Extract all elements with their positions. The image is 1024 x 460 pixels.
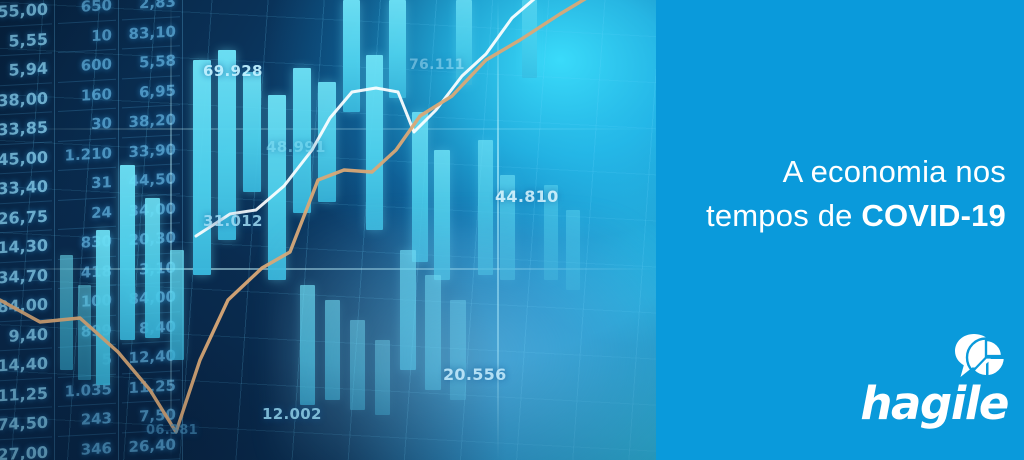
chart-value-label: 12.002 xyxy=(262,405,322,423)
chart-value-label: 44.810 xyxy=(495,187,559,206)
chart-value-label: 69.928 xyxy=(203,62,263,80)
financial-chart-image: 55,005,555,9438,0033,8545,0033,4026,7514… xyxy=(0,0,656,460)
logo-wordmark: hagile xyxy=(656,378,1008,430)
page-title: A economia nos tempos de COVID-19 xyxy=(656,150,1006,238)
hagile-logo[interactable]: hagile xyxy=(656,330,1008,430)
chart-value-label: 20.556 xyxy=(443,365,507,384)
headline-line-2: tempos de COVID-19 xyxy=(656,194,1006,238)
chart-value-label: 48.991 xyxy=(266,138,326,156)
pie-chart-speech-bubble-icon xyxy=(952,330,1008,384)
chart-value-label: 31.012 xyxy=(203,212,263,230)
promo-panel: A economia nos tempos de COVID-19 hagile xyxy=(656,0,1024,460)
chart-value-label: 06.381 xyxy=(146,423,198,438)
chart-value-label: 76.111 xyxy=(409,57,465,73)
covid-economy-banner: 55,005,555,9438,0033,8545,0033,4026,7514… xyxy=(0,0,1024,460)
headline-line-1: A economia nos xyxy=(783,154,1006,189)
chart-vignette xyxy=(0,0,656,460)
headline-covid-strong: COVID-19 xyxy=(861,198,1006,233)
headline-line-2-prefix: tempos de xyxy=(706,198,861,233)
